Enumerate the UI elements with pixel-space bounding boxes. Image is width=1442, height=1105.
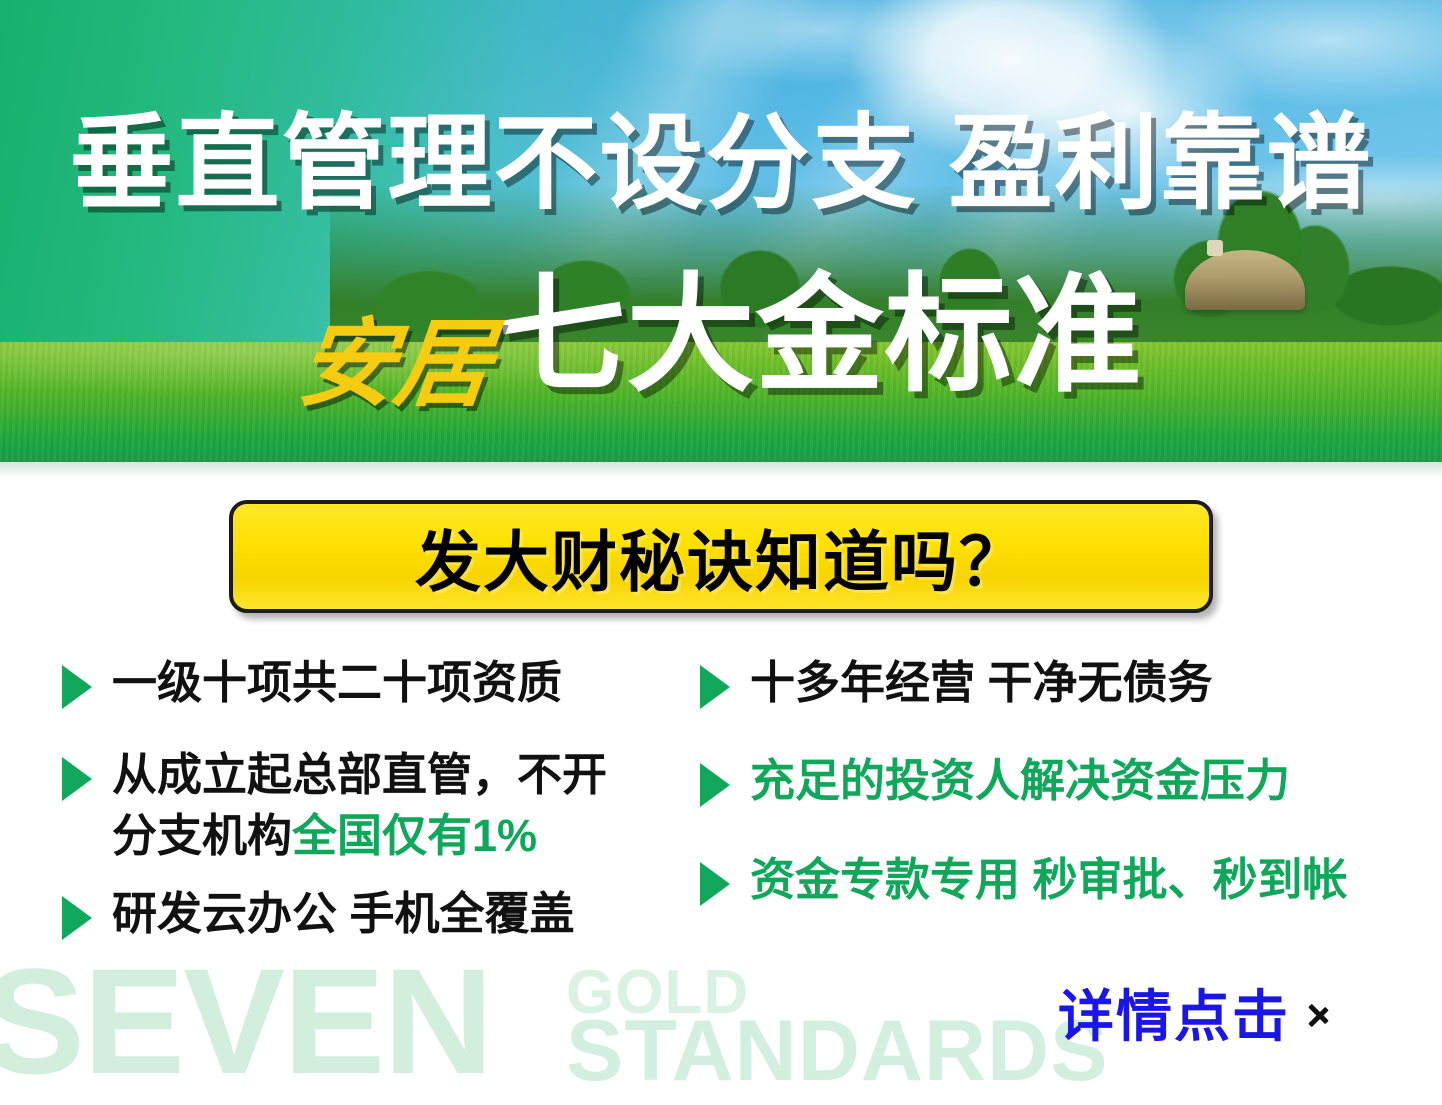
list-item: 从成立起总部直管，不开 分支机构全国仅有1% bbox=[62, 747, 702, 864]
hero-brand-word: 安居 bbox=[294, 317, 496, 413]
feature-text-line2: 分支机构全国仅有1% bbox=[112, 808, 607, 864]
list-item: 资金专款专用 秒审批、秒到帐 bbox=[700, 852, 1400, 908]
feature-text-plain: 分支机构 bbox=[112, 810, 292, 861]
feature-text-highlight: 全国仅有1% bbox=[292, 810, 537, 861]
triangle-bullet-icon bbox=[62, 665, 92, 709]
list-item: 十多年经营 干净无债务 bbox=[700, 655, 1400, 711]
triangle-bullet-icon bbox=[62, 757, 92, 801]
feature-text-line1: 从成立起总部直管，不开 bbox=[112, 749, 607, 800]
feature-column-left: 一级十项共二十项资质 从成立起总部直管，不开 分支机构全国仅有1% 研发云办公 … bbox=[62, 655, 702, 970]
headline-callout-label: 发大财秘诀知道吗？ bbox=[415, 509, 1027, 605]
triangle-bullet-icon bbox=[700, 862, 730, 906]
banner-bottom-fade bbox=[0, 462, 1442, 478]
hero-banner: 垂直管理不设分支 盈利靠谱 安居七大金标准 bbox=[0, 0, 1442, 462]
feature-text: 一级十项共二十项资质 bbox=[112, 655, 562, 711]
hero-headline: 垂直管理不设分支 盈利靠谱 bbox=[0, 112, 1442, 216]
triangle-bullet-icon bbox=[700, 665, 730, 709]
watermark-standards: STANDARDS bbox=[566, 1008, 1109, 1094]
feature-list: 一级十项共二十项资质 从成立起总部直管，不开 分支机构全国仅有1% 研发云办公 … bbox=[0, 655, 1442, 995]
triangle-bullet-icon bbox=[700, 763, 730, 807]
list-item: 一级十项共二十项资质 bbox=[62, 655, 702, 711]
headline-callout-banner[interactable]: 发大财秘诀知道吗？ bbox=[229, 500, 1213, 613]
feature-text: 十多年经营 干净无债务 bbox=[750, 655, 1213, 711]
feature-text: 研发云办公 手机全覆盖 bbox=[112, 886, 575, 942]
feature-column-right: 十多年经营 干净无债务 充足的投资人解决资金压力 资金专款专用 秒审批、秒到帐 bbox=[700, 655, 1400, 936]
feature-text: 从成立起总部直管，不开 分支机构全国仅有1% bbox=[112, 747, 607, 864]
details-link[interactable]: 详情点击 bbox=[1058, 972, 1330, 1053]
list-item: 研发云办公 手机全覆盖 bbox=[62, 886, 702, 942]
feature-text: 充足的投资人解决资金压力 bbox=[750, 753, 1290, 809]
details-link-label: 详情点击 bbox=[1058, 972, 1290, 1053]
feature-text: 资金专款专用 秒审批、秒到帐 bbox=[750, 852, 1348, 908]
chevron-right-icon bbox=[1308, 994, 1330, 1032]
hero-subheadline: 七大金标准 bbox=[497, 272, 1142, 400]
hero-subheadline-row: 安居七大金标准 bbox=[0, 272, 1442, 413]
triangle-bullet-icon bbox=[62, 896, 92, 940]
list-item: 充足的投资人解决资金压力 bbox=[700, 753, 1400, 809]
